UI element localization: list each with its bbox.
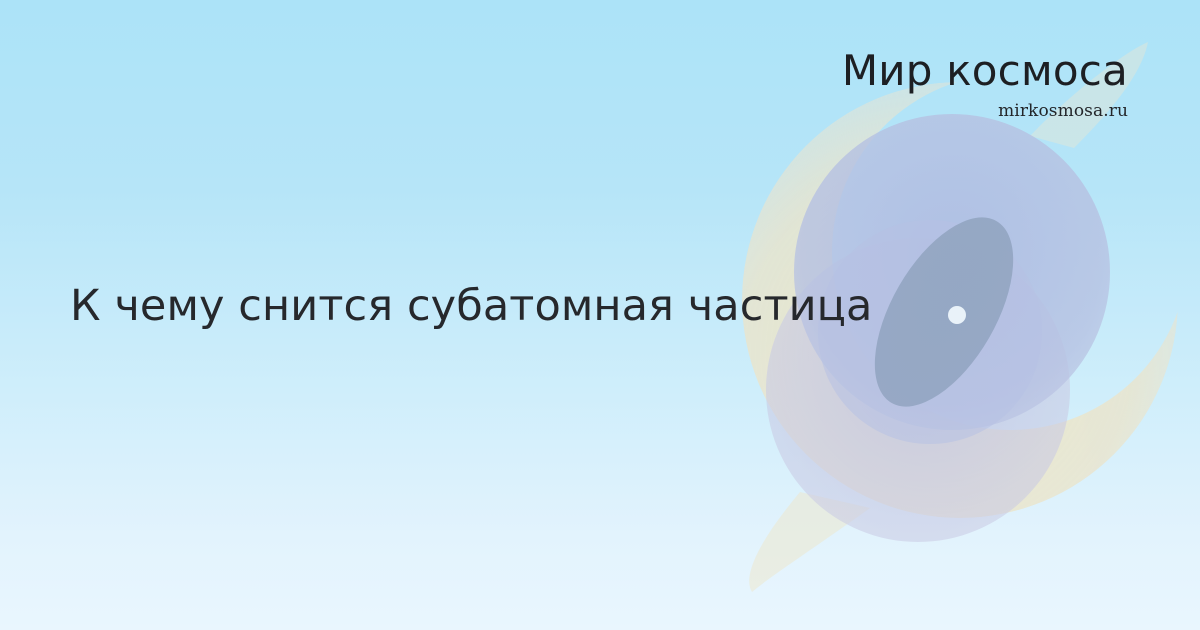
page-title: К чему снится субатомная частица bbox=[70, 281, 873, 333]
banner-root: Мир космоса mirkosmosa.ru К чему снится … bbox=[0, 0, 1200, 630]
white-dot bbox=[948, 306, 966, 324]
site-logo-title: Мир космоса bbox=[842, 50, 1128, 92]
lavender-circle-upper bbox=[794, 114, 1110, 430]
site-logo-domain: mirkosmosa.ru bbox=[842, 103, 1128, 120]
site-logo[interactable]: Мир космоса mirkosmosa.ru bbox=[842, 50, 1128, 120]
slate-ellipse bbox=[846, 195, 1041, 429]
